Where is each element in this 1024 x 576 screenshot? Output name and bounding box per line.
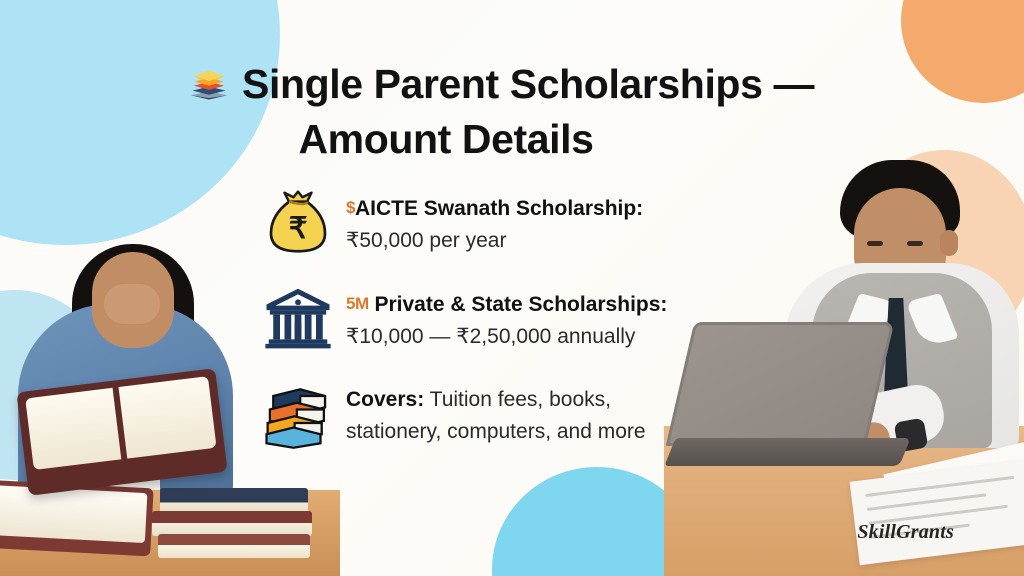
boy-ear	[940, 230, 958, 256]
bank-building-icon	[258, 282, 338, 354]
graduation-books-emoji	[186, 61, 232, 105]
paper-line	[865, 476, 1014, 497]
dollar-marker-icon: $	[346, 198, 355, 217]
list-item-lead: Private & State Scholarships:	[374, 293, 667, 316]
money-marker-icon: 5M	[346, 294, 369, 313]
detail-list: ₹ $AICTE Swanath Scholarship: ₹50,000 pe…	[258, 184, 728, 472]
list-item-heading: 5M Private & State Scholarships:	[346, 288, 728, 321]
desk-book-maroon	[152, 511, 312, 536]
girl-face-shading	[104, 284, 160, 324]
decorative-blob-top-right	[901, 0, 1024, 103]
list-item-text: $AICTE Swanath Scholarship: ₹50,000 per …	[346, 184, 728, 257]
list-item-heading: $AICTE Swanath Scholarship:	[346, 192, 728, 225]
paper-line	[867, 493, 986, 511]
boy-eye-right	[907, 241, 923, 246]
poster-canvas: Single Parent Scholarships — Amount Deta…	[0, 0, 1024, 576]
list-item-heading: Covers: Tuition fees, books,	[346, 384, 728, 416]
page-title: Single Parent Scholarships — Amount Deta…	[186, 57, 886, 167]
svg-text:₹: ₹	[289, 213, 308, 245]
list-item-detail-inline: Tuition fees, books,	[424, 388, 611, 411]
list-item-text: Covers: Tuition fees, books, stationery,…	[346, 376, 728, 448]
boy-eye-left	[867, 241, 883, 246]
stacked-books-icon	[258, 378, 338, 450]
list-item: 5M Private & State Scholarships: ₹10,000…	[258, 280, 728, 362]
list-item-lead: AICTE Swanath Scholarship:	[355, 197, 643, 220]
list-item: ₹ $AICTE Swanath Scholarship: ₹50,000 pe…	[258, 184, 728, 266]
list-item-detail: ₹10,000 — ₹2,50,000 annually	[346, 321, 728, 353]
list-item-text: 5M Private & State Scholarships: ₹10,000…	[346, 280, 728, 353]
list-item: Covers: Tuition fees, books, stationery,…	[258, 376, 728, 458]
list-item-detail: ₹50,000 per year	[346, 225, 728, 257]
open-book-on-desk	[0, 480, 154, 557]
list-item-lead: Covers:	[346, 388, 424, 411]
brand-watermark: SkillGrants	[857, 521, 954, 544]
money-bag-icon: ₹	[258, 186, 338, 258]
title-line-1: Single Parent Scholarships —	[186, 57, 886, 112]
list-item-detail: stationery, computers, and more	[346, 416, 728, 448]
desk-book-brown	[158, 534, 310, 558]
title-line-2: Amount Details	[186, 112, 886, 167]
